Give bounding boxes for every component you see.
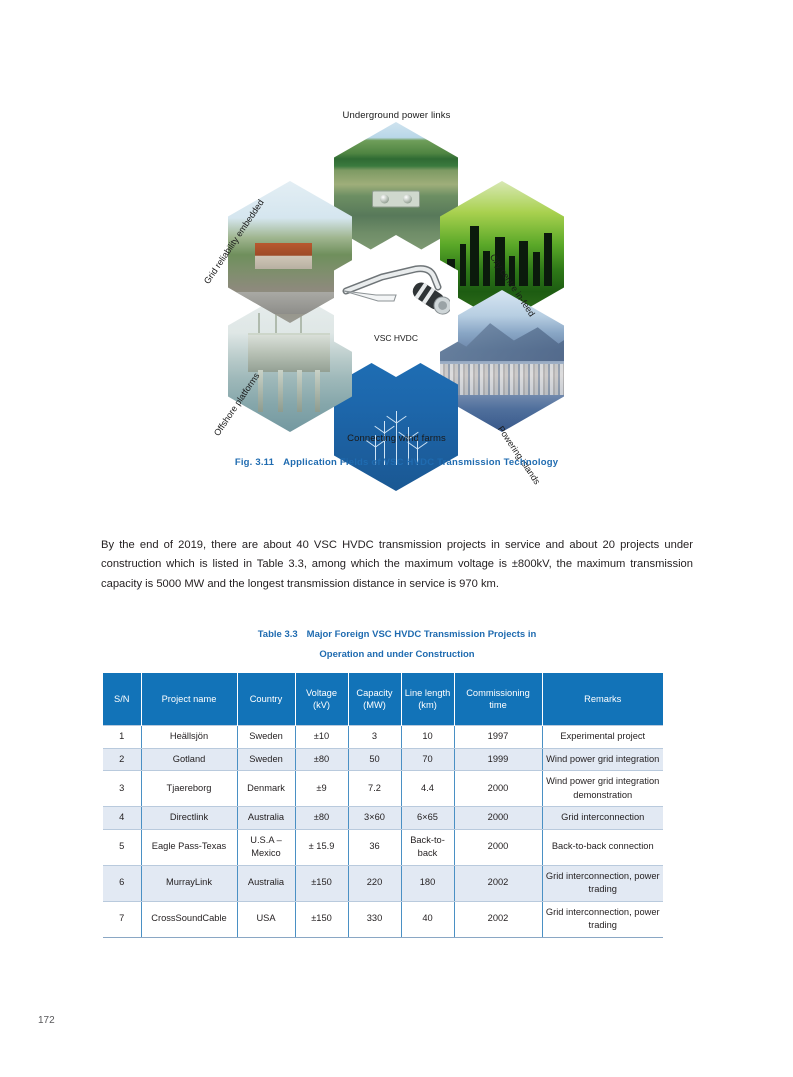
table-row: 5 Eagle Pass-Texas U.S.A – Mexico ± 15.9… (103, 829, 663, 865)
cell-capacity: 3×60 (348, 807, 401, 830)
cell-time: 2000 (454, 807, 542, 830)
cell-time: 2000 (454, 771, 542, 807)
cell-country: Australia (237, 807, 295, 830)
cell-remarks: Wind power grid integration demonstratio… (542, 771, 663, 807)
table-row: 1 Heällsjön Sweden ±10 3 10 1997 Experim… (103, 726, 663, 749)
table-row: 3 Tjaereborg Denmark ±9 7.2 4.4 2000 Win… (103, 771, 663, 807)
cell-line-length: 10 (401, 726, 454, 749)
cell-project: CrossSoundCable (141, 901, 237, 937)
table-caption-text1: Major Foreign VSC HVDC Transmission Proj… (307, 629, 537, 640)
hex-tile-grid-reliability-embedded (228, 181, 352, 323)
cell-project: Heällsjön (141, 726, 237, 749)
cell-time: 1997 (454, 726, 542, 749)
cell-line-length: 4.4 (401, 771, 454, 807)
table-caption-number: Table 3.3 (258, 629, 298, 640)
cell-voltage: ±80 (295, 807, 348, 830)
hvdc-cable-connector-icon (342, 261, 450, 317)
table-header-row: S/N Project name Country Voltage (kV) Ca… (103, 673, 663, 726)
cell-line-length: 6×65 (401, 807, 454, 830)
table-row: 6 MurrayLink Australia ±150 220 180 2002… (103, 865, 663, 901)
hex-center-vsc-hvdc: VSC HVDC (334, 235, 458, 377)
table-caption-line2: Operation and under Construction (101, 645, 693, 665)
cell-sn: 3 (103, 771, 141, 807)
col-header-project-name: Project name (141, 673, 237, 726)
substation-neighbourhood-image (228, 181, 352, 323)
page-number: 172 (38, 1015, 55, 1026)
cell-line-length: 40 (401, 901, 454, 937)
cell-country: Australia (237, 865, 295, 901)
cell-remarks: Experimental project (542, 726, 663, 749)
table-caption: Table 3.3Major Foreign VSC HVDC Transmis… (101, 625, 693, 665)
col-header-country: Country (237, 673, 295, 726)
cell-capacity: 3 (348, 726, 401, 749)
col-header-sn: S/N (103, 673, 141, 726)
cell-remarks: Grid interconnection, power trading (542, 901, 663, 937)
cell-capacity: 7.2 (348, 771, 401, 807)
col-header-capacity: Capacity (MW) (348, 673, 401, 726)
cell-line-length: Back-to-back (401, 829, 454, 865)
cell-country: Sweden (237, 748, 295, 771)
figure-application-fields: Underground power links (0, 100, 793, 455)
cable-duct-icon (372, 190, 420, 207)
cell-capacity: 330 (348, 901, 401, 937)
hex-tile-powering-islands (440, 290, 564, 432)
coastal-town (440, 364, 564, 395)
cell-project: MurrayLink (141, 865, 237, 901)
cell-capacity: 220 (348, 865, 401, 901)
cell-remarks: Wind power grid integration (542, 748, 663, 771)
island-coastal-image (440, 290, 564, 432)
cell-project: Eagle Pass-Texas (141, 829, 237, 865)
cell-time: 1999 (454, 748, 542, 771)
table-row: 2 Gotland Sweden ±80 50 70 1999 Wind pow… (103, 748, 663, 771)
cell-time: 2002 (454, 865, 542, 901)
cell-voltage: ±10 (295, 726, 348, 749)
cell-country: USA (237, 901, 295, 937)
cell-capacity: 50 (348, 748, 401, 771)
figure-label-connecting-wind-farms: Connecting wind farms (0, 433, 793, 444)
cell-voltage: ±80 (295, 748, 348, 771)
center-label-vsc-hvdc: VSC HVDC (334, 333, 458, 343)
cell-remarks: Grid interconnection, power trading (542, 865, 663, 901)
hexagon-diagram: VSC HVDC (228, 122, 564, 432)
table-caption-line1: Table 3.3Major Foreign VSC HVDC Transmis… (101, 625, 693, 645)
projects-table: S/N Project name Country Voltage (kV) Ca… (103, 673, 663, 938)
col-header-voltage: Voltage (kV) (295, 673, 348, 726)
cell-line-length: 180 (401, 865, 454, 901)
cell-line-length: 70 (401, 748, 454, 771)
mountain-ridge (440, 310, 564, 361)
cell-project: Tjaereborg (141, 771, 237, 807)
cell-remarks: Back-to-back connection (542, 829, 663, 865)
cell-country: Sweden (237, 726, 295, 749)
road (228, 292, 352, 315)
cell-country: U.S.A – Mexico (237, 829, 295, 865)
platform-deck (248, 333, 330, 372)
cell-country: Denmark (237, 771, 295, 807)
figure-caption-number: Fig. 3.11 (235, 457, 274, 468)
cell-voltage: ±9 (295, 771, 348, 807)
cell-remarks: Grid interconnection (542, 807, 663, 830)
figure-label-underground-power-links: Underground power links (0, 110, 793, 121)
cell-sn: 4 (103, 807, 141, 830)
building (255, 243, 312, 269)
col-header-line-length: Line length (km) (401, 673, 454, 726)
cell-sn: 5 (103, 829, 141, 865)
cell-sn: 1 (103, 726, 141, 749)
table-row: 4 Directlink Australia ±80 3×60 6×65 200… (103, 807, 663, 830)
col-header-remarks: Remarks (542, 673, 663, 726)
table-row: 7 CrossSoundCable USA ±150 330 40 2002 G… (103, 901, 663, 937)
cell-time: 2002 (454, 901, 542, 937)
cell-project: Directlink (141, 807, 237, 830)
cell-voltage: ± 15.9 (295, 829, 348, 865)
col-header-commissioning-time: Commissioning time (454, 673, 542, 726)
cell-sn: 7 (103, 901, 141, 937)
cell-project: Gotland (141, 748, 237, 771)
body-paragraph: By the end of 2019, there are about 40 V… (101, 536, 693, 594)
cell-capacity: 36 (348, 829, 401, 865)
cell-voltage: ±150 (295, 865, 348, 901)
figure-caption-text: Application Fields of VSC HVDC Transmiss… (283, 457, 558, 468)
cell-sn: 2 (103, 748, 141, 771)
figure-caption: Fig. 3.11Application Fields of VSC HVDC … (0, 457, 793, 468)
cell-sn: 6 (103, 865, 141, 901)
cell-voltage: ±150 (295, 901, 348, 937)
cell-time: 2000 (454, 829, 542, 865)
